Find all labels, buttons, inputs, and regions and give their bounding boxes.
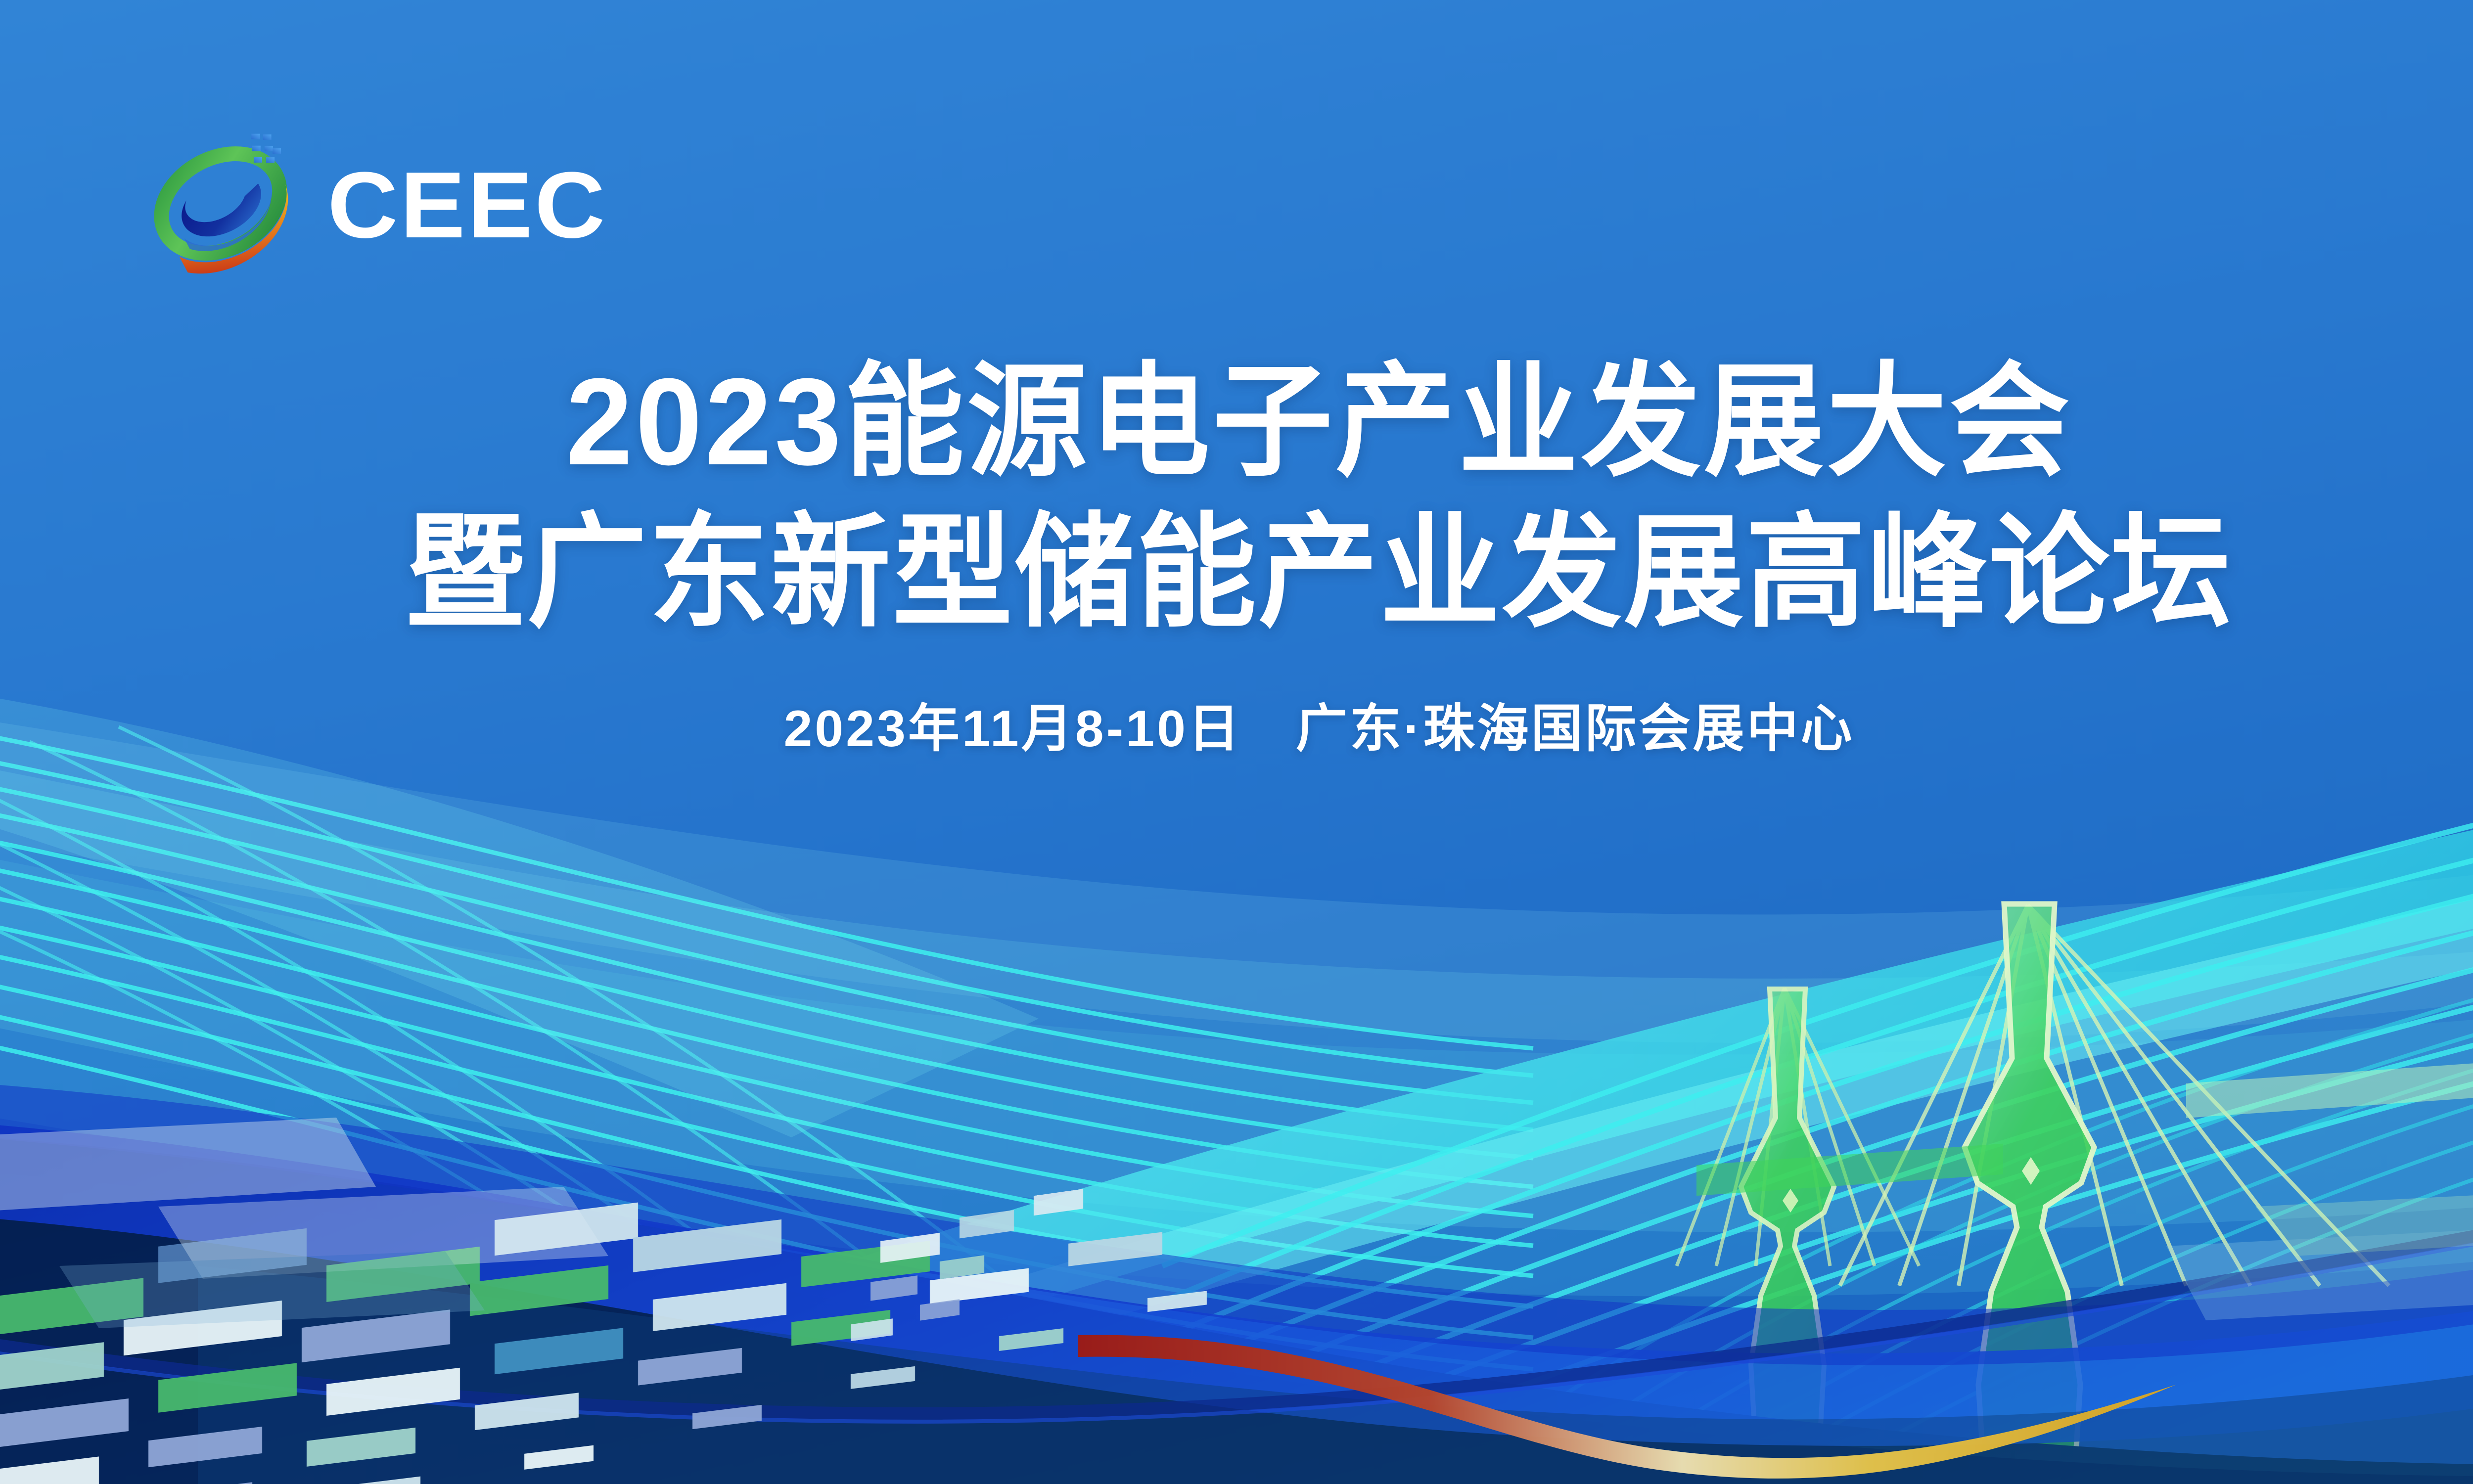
conference-title-line-2: 暨广东新型储能产业发展高峰论坛: [40, 497, 2473, 648]
conference-banner: CEEC 2023能源电子产业发展大会 暨广东新型储能产业发展高峰论坛 2023…: [0, 0, 2473, 1484]
headline-block: 2023能源电子产业发展大会 暨广东新型储能产业发展高峰论坛 2023年11月8…: [0, 346, 2473, 761]
ceec-logo-lockup[interactable]: CEEC: [142, 124, 596, 287]
conference-title-line-1: 2023能源电子产业发展大会: [40, 346, 2473, 497]
date-and-venue: 2023年11月8-10日 广东·珠海国际会展中心: [0, 686, 2473, 761]
ceec-ellipse-logo-icon: [142, 124, 306, 287]
ceec-wordmark: CEEC: [327, 158, 607, 252]
